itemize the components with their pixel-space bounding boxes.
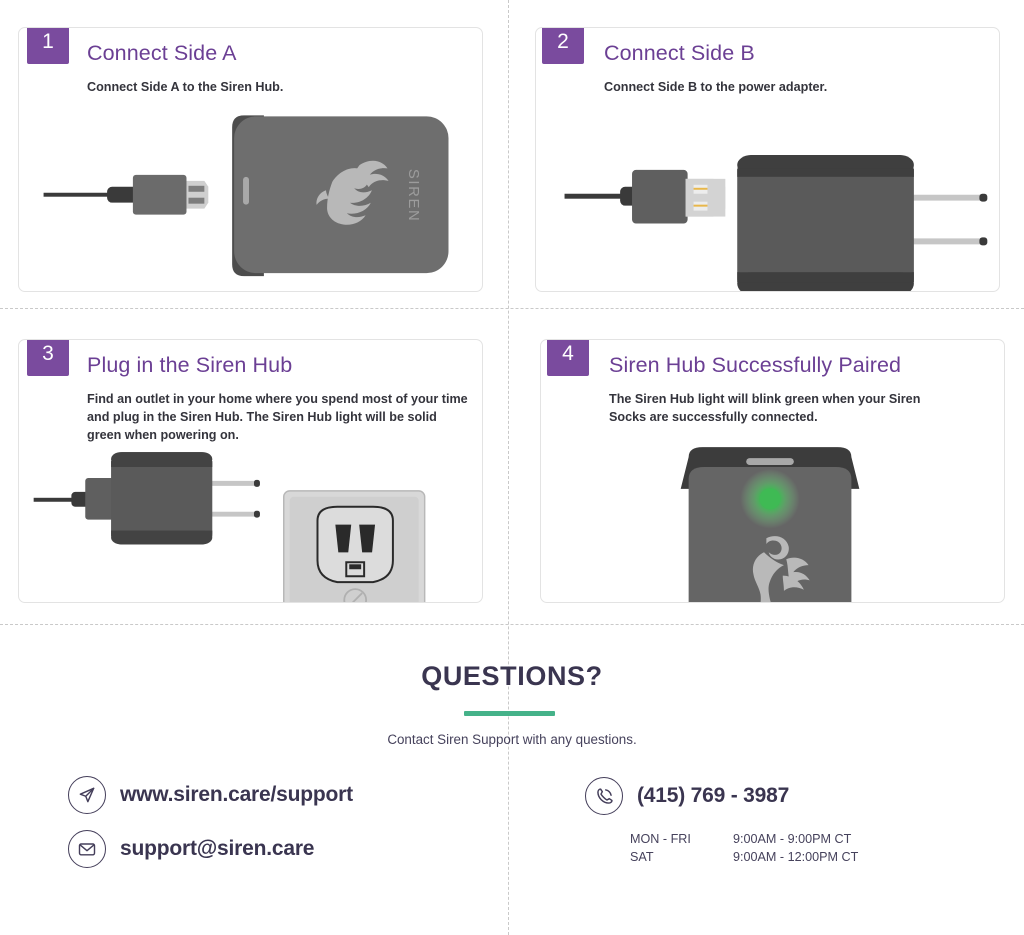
hours-time: 9:00AM - 9:00PM CT	[733, 831, 858, 849]
paper-plane-icon	[68, 776, 106, 814]
email-label: support@siren.care	[120, 837, 314, 861]
questions-subtitle: Contact Siren Support with any questions…	[0, 732, 1024, 747]
led-indicator	[760, 488, 781, 509]
illustration-hub-green-led	[541, 340, 1004, 602]
contact-email[interactable]: support@siren.care	[68, 830, 314, 868]
envelope-icon	[68, 830, 106, 868]
hub-brand-text: SIREN	[405, 169, 421, 222]
phone-icon	[585, 777, 623, 815]
contact-phone[interactable]: (415) 769 - 3987	[585, 777, 789, 815]
hours-days: SAT	[630, 849, 733, 867]
questions-heading: QUESTIONS?	[0, 661, 1024, 692]
illustration-cable-and-hub: SIREN	[19, 28, 482, 291]
step-card-1: 1 Connect Side A Connect Side A to the S…	[18, 27, 483, 292]
instruction-sheet: 1 Connect Side A Connect Side A to the S…	[0, 0, 1024, 935]
step-card-2: 2 Connect Side B Connect Side B to the p…	[535, 27, 1000, 292]
vertical-divider	[508, 0, 509, 935]
phone-label: (415) 769 - 3987	[637, 784, 789, 808]
hours-row: MON - FRI 9:00AM - 9:00PM CT	[630, 831, 858, 849]
hours-row: SAT 9:00AM - 12:00PM CT	[630, 849, 858, 867]
questions-accent-rule	[464, 711, 555, 716]
hours-days: MON - FRI	[630, 831, 733, 849]
hours-time: 9:00AM - 12:00PM CT	[733, 849, 858, 867]
website-label: www.siren.care/support	[120, 783, 353, 807]
horizontal-divider-bottom	[0, 624, 1024, 625]
contact-website[interactable]: www.siren.care/support	[68, 776, 353, 814]
illustration-adapter-and-outlet	[19, 340, 482, 602]
illustration-usb-and-adapter	[536, 28, 999, 291]
step-card-4: 4 Siren Hub Successfully Paired The Sire…	[540, 339, 1005, 603]
horizontal-divider-middle	[0, 308, 1024, 309]
step-card-3: 3 Plug in the Siren Hub Find an outlet i…	[18, 339, 483, 603]
support-hours: MON - FRI 9:00AM - 9:00PM CT SAT 9:00AM …	[630, 831, 858, 867]
